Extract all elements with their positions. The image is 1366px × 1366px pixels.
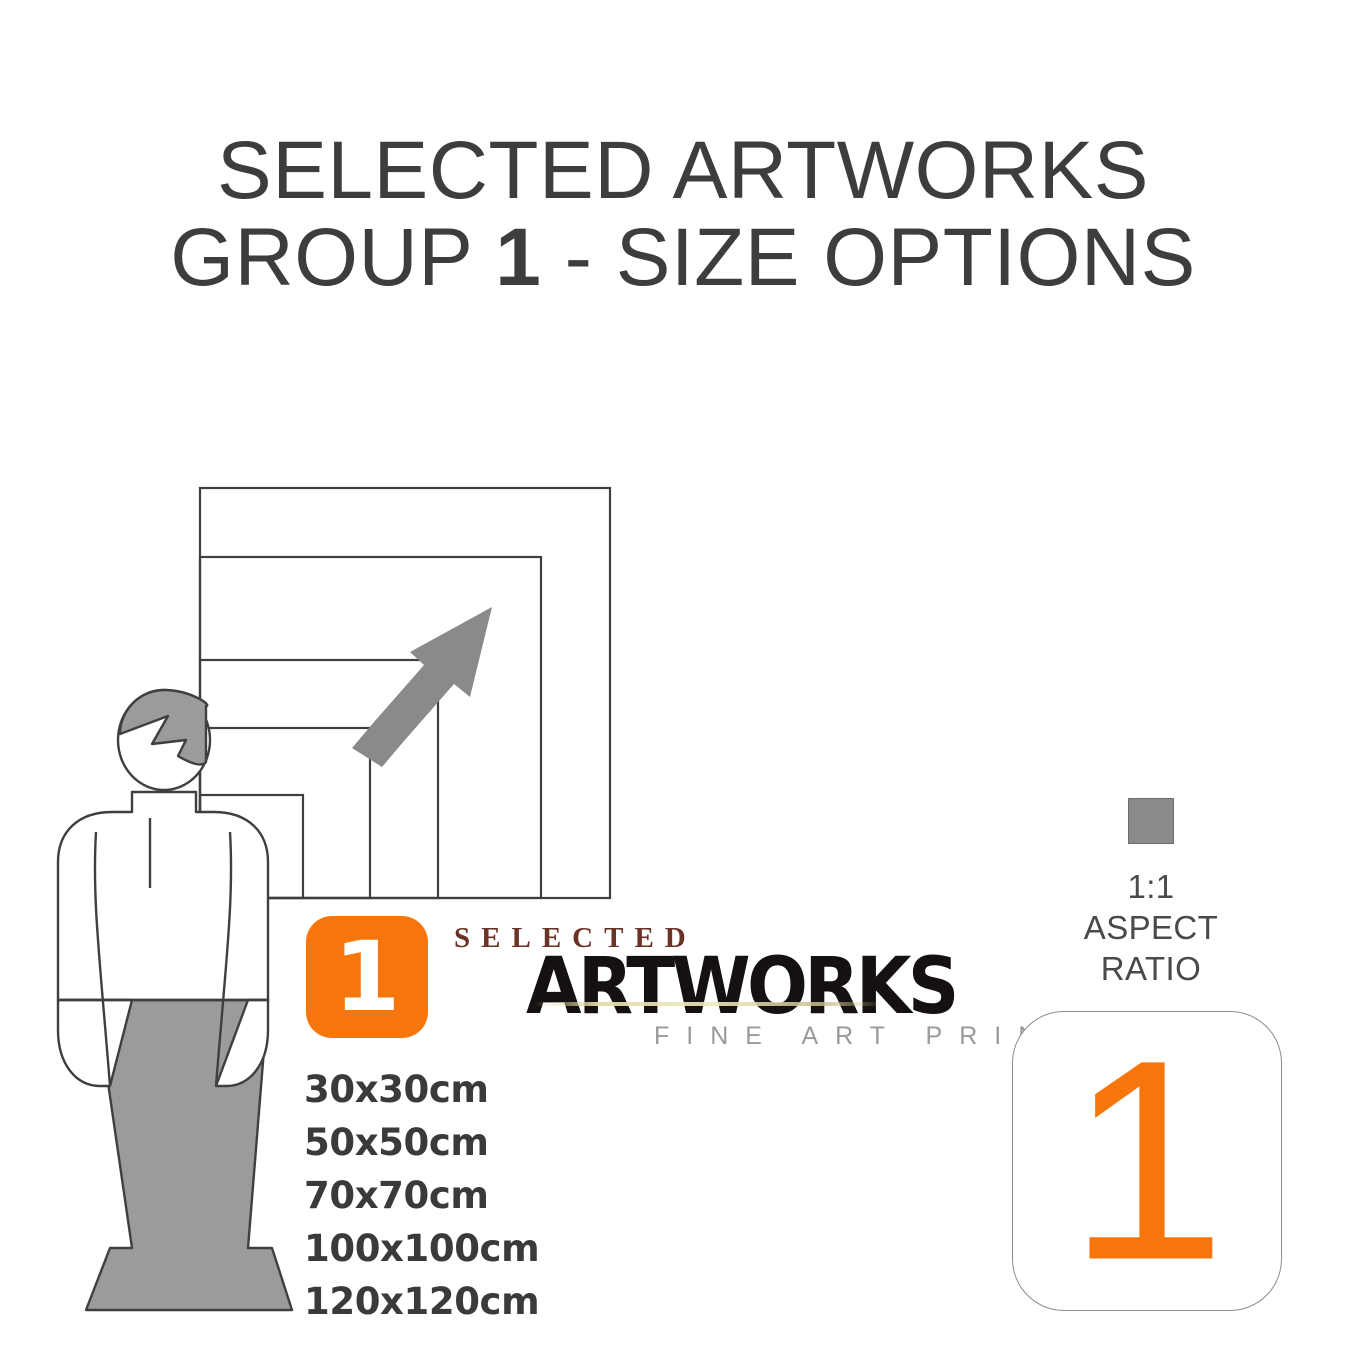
aspect-ratio-label-line-2: RATIO bbox=[1022, 948, 1280, 989]
size-option-item: 50x50cm bbox=[304, 1116, 724, 1169]
aspect-ratio-swatch-icon bbox=[1128, 798, 1174, 844]
aspect-ratio-block: 1:1 ASPECT RATIO bbox=[1022, 798, 1280, 989]
group-number-value: 1 bbox=[1013, 1019, 1281, 1304]
person-torso bbox=[58, 792, 268, 1000]
size-option-item: 100x100cm bbox=[304, 1222, 724, 1275]
logo-wordmark: SELECTED ARTWORKS FINE ART PRINTS bbox=[446, 916, 946, 1066]
aspect-ratio-label-line-1: ASPECT bbox=[1022, 907, 1280, 948]
size-option-item: 120x120cm bbox=[304, 1275, 724, 1328]
logo-distress-streak bbox=[534, 1002, 884, 1006]
aspect-ratio-value: 1:1 bbox=[1022, 866, 1280, 907]
logo-artworks-text: ARTWORKS bbox=[526, 942, 956, 1032]
logo-group-badge: 1 bbox=[306, 916, 428, 1038]
person-scale-figure bbox=[58, 690, 292, 1310]
brand-logo-lockup: 1 SELECTED ARTWORKS FINE ART PRINTS bbox=[306, 916, 946, 1066]
size-options-list: 30x30cm 50x50cm 70x70cm 100x100cm 120x12… bbox=[304, 1063, 724, 1328]
size-option-item: 70x70cm bbox=[304, 1169, 724, 1222]
group-number-card: 1 bbox=[1012, 1011, 1282, 1311]
size-option-item: 30x30cm bbox=[304, 1063, 724, 1116]
growth-arrow-icon bbox=[352, 607, 492, 767]
